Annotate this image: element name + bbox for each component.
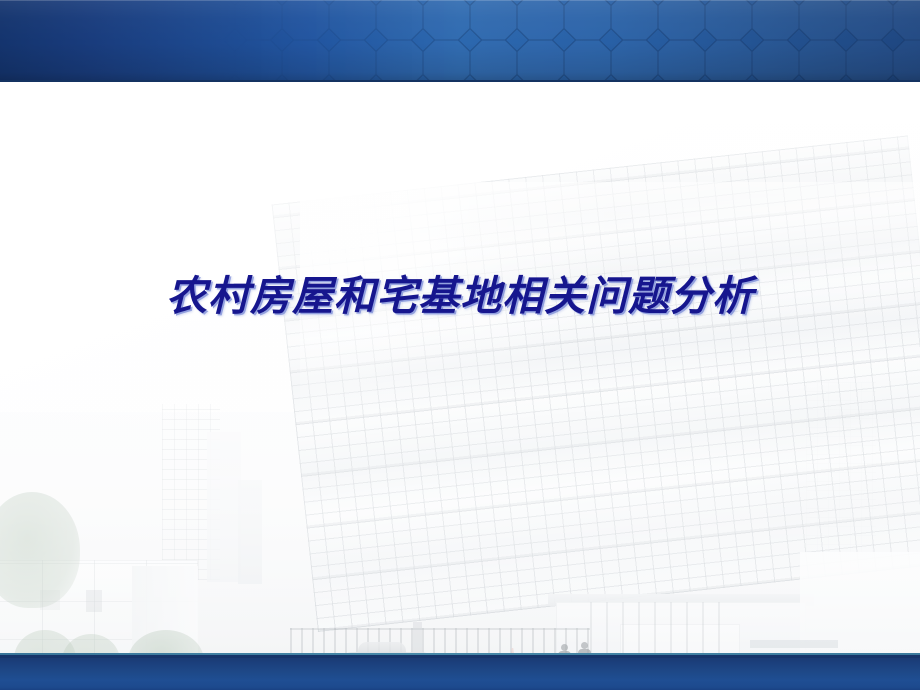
slide-title: 农村房屋和宅基地相关问题分析 [166, 262, 806, 322]
background-building-left-c [238, 480, 262, 584]
low-rise-window-a [86, 590, 102, 612]
car-roof [358, 642, 406, 653]
person-figure-b [578, 642, 591, 653]
background-building-left-b [207, 432, 241, 582]
bottom-bar-dark-line [0, 655, 920, 658]
person-head [581, 642, 588, 649]
top-banner [0, 0, 920, 82]
iron-fence-rail [290, 628, 590, 630]
banner-top-highlight [0, 0, 920, 1]
iron-fence [290, 628, 590, 653]
presentation-slide: 北京市第三中级人民 Beijing third intermediate pe [0, 0, 920, 690]
signage-plaque [750, 640, 838, 648]
right-wall [800, 552, 920, 653]
background-photograph: 北京市第三中级人民 Beijing third intermediate pe [0, 82, 920, 653]
gate-pillar [413, 622, 422, 653]
tree-large-left [0, 492, 80, 608]
bottom-bar [0, 653, 920, 690]
person-figure-a [558, 644, 571, 653]
person-head [561, 644, 568, 651]
banner-shading [0, 0, 920, 82]
iron-fence-right [590, 602, 720, 653]
